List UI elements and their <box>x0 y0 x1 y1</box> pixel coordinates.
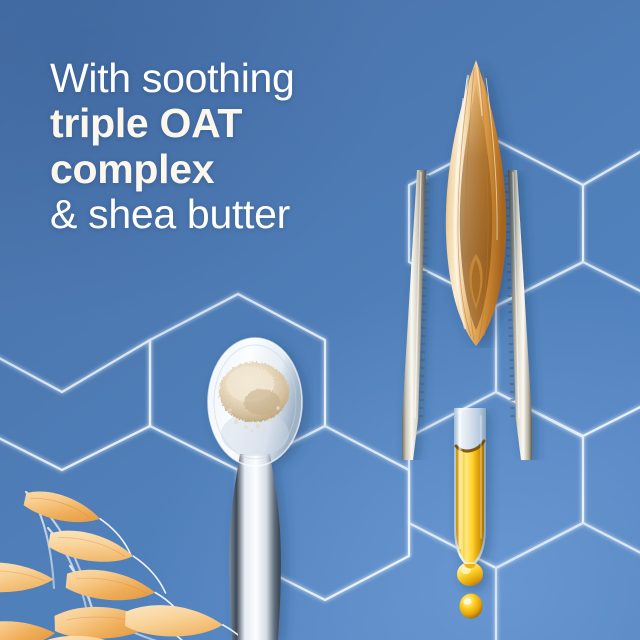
headline-line-3: complex <box>50 149 420 191</box>
oat-spikelet-stalks <box>0 470 238 640</box>
product-banner: With soothing triple OAT complex & shea … <box>0 0 640 640</box>
page-title: With soothing triple OAT complex & shea … <box>50 58 420 236</box>
oil-droplet <box>458 592 484 620</box>
headline-line-2: triple OAT <box>50 103 420 145</box>
oat-grain-kernel <box>432 58 520 348</box>
headline-line-4: & shea butter <box>50 194 420 236</box>
glass-dropper-pipette <box>440 408 500 608</box>
headline-line-1: With soothing <box>50 58 420 100</box>
